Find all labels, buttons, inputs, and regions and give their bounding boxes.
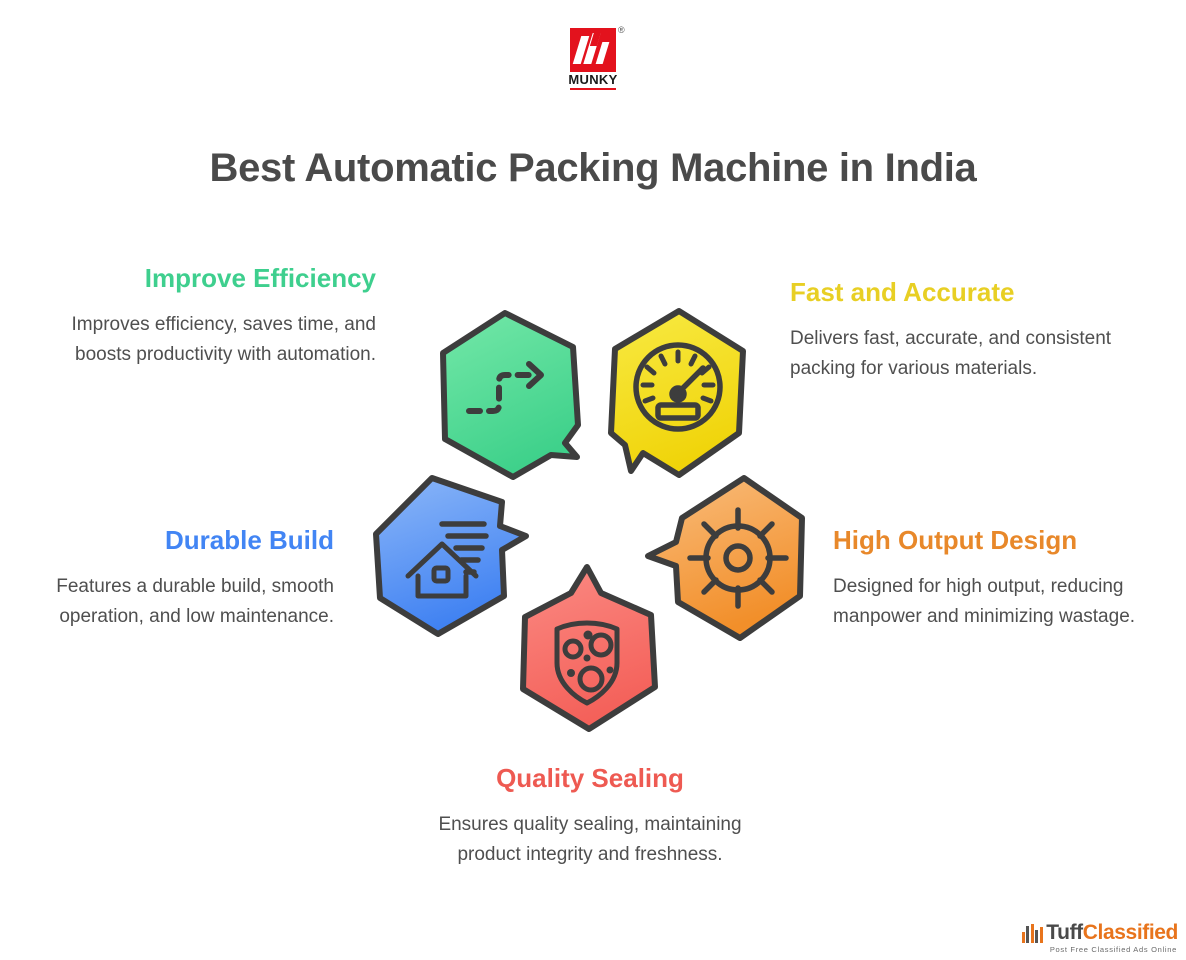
feature-description-quality-sealing: Ensures quality sealing, maintaining pro… [406,810,774,870]
footer-brand-part1: Tuff [1046,923,1082,943]
brand-mark-wrapper: ® [570,28,616,72]
feature-title-durable-build: Durable Build [16,524,334,556]
feature-title-high-output-design: High Output Design [833,524,1163,556]
footer-logo-row: TuffClassified [1022,923,1178,943]
feature-quality-sealing: Quality Sealing Ensures quality sealing,… [406,762,774,870]
brand-name: MUNKY [561,73,625,87]
brand-logo: ® MUNKY [561,28,625,90]
registered-trademark-icon: ® [618,26,625,35]
feature-high-output-design: High Output Design Designed for high out… [833,524,1163,632]
feature-durable-build: Durable Build Features a durable build, … [16,524,334,632]
feature-description-fast-and-accurate: Delivers fast, accurate, and consistent … [790,324,1120,384]
feature-fast-and-accurate: Fast and Accurate Delivers fast, accurat… [790,276,1120,384]
hexagon-bubble-quality-sealing [495,563,685,743]
feature-improve-efficiency: Improve Efficiency Improves efficiency, … [36,262,376,370]
bar-chart-icon [1022,924,1045,943]
feature-description-high-output-design: Designed for high output, reducing manpo… [833,572,1163,632]
speedometer-icon [636,345,720,429]
feature-title-improve-efficiency: Improve Efficiency [36,262,376,294]
page-title: Best Automatic Packing Machine in India [203,142,983,194]
footer-logo-tuffclassified[interactable]: TuffClassified Post Free Classified Ads … [1022,923,1178,954]
hexagon-bubble-fast-and-accurate [583,305,773,485]
hexagon-bubble-improve-efficiency [413,305,603,485]
hexagon-icon-cluster [360,300,830,730]
feature-description-improve-efficiency: Improves efficiency, saves time, and boo… [36,310,376,370]
infographic-page: ® MUNKY Best Automatic Packing Machine i… [0,0,1186,960]
feature-title-quality-sealing: Quality Sealing [406,762,774,794]
feature-description-durable-build: Features a durable build, smooth operati… [16,572,334,632]
footer-tagline: Post Free Classified Ads Online [1050,945,1177,954]
feature-title-fast-and-accurate: Fast and Accurate [790,276,1120,308]
footer-brand-part2: Classified [1083,923,1178,943]
munky-logo-icon [570,28,616,72]
brand-underline [570,88,616,90]
